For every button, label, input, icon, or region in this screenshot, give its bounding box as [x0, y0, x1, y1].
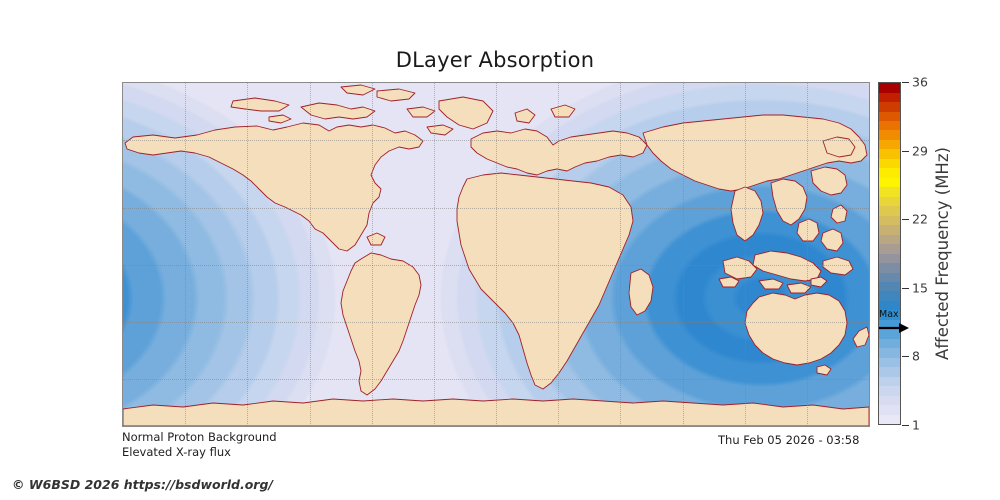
- colorbar-tick: [902, 219, 909, 220]
- colorbar-band: [879, 178, 900, 187]
- colorbar-band: [879, 348, 900, 357]
- colorbar-band: [879, 206, 900, 215]
- colorbar-band: [879, 121, 900, 130]
- status-notes: Normal Proton Background Elevated X-ray …: [122, 430, 277, 459]
- page-title: DLayer Absorption: [0, 48, 990, 72]
- colorbar-band: [879, 102, 900, 111]
- colorbar-tick-label-1: 1: [912, 418, 920, 433]
- colorbar-gradient: [878, 82, 901, 425]
- colorbar-band: [879, 367, 900, 376]
- coastlines-layer: [123, 83, 869, 426]
- colorbar-band: [879, 168, 900, 177]
- colorbar-band: [879, 405, 900, 414]
- colorbar-tick-label-22: 22: [912, 212, 928, 227]
- copyright-label: © W6BSD 2026 https://bsdworld.org/: [12, 477, 273, 492]
- colorbar-band: [879, 130, 900, 139]
- max-arrow-icon: [879, 322, 909, 334]
- colorbar-band: [879, 339, 900, 348]
- continent-antarctica: [123, 399, 869, 426]
- island-greenland-misc: [439, 97, 575, 129]
- continent-europe-africa: [457, 129, 703, 389]
- colorbar-band: [879, 83, 900, 92]
- colorbar-axis-label-text: Affected Frequency (MHz): [933, 147, 952, 360]
- colorbar: 36 29 22 15 8 1: [878, 82, 901, 425]
- colorbar-band: [879, 291, 900, 300]
- colorbar-tick: [902, 356, 909, 357]
- continent-south-america: [341, 253, 421, 395]
- continent-north-america: [125, 85, 453, 251]
- colorbar-band: [879, 225, 900, 234]
- world-map-plot: [122, 82, 870, 427]
- max-annotation: Max: [879, 310, 915, 334]
- colorbar-tick: [902, 288, 909, 289]
- colorbar-band: [879, 235, 900, 244]
- colorbar-tick: [902, 82, 909, 83]
- timestamp-label: Thu Feb 05 2026 - 03:58: [718, 433, 859, 447]
- colorbar-band: [879, 149, 900, 158]
- colorbar-band: [879, 159, 900, 168]
- colorbar-tick-label-29: 29: [912, 143, 928, 158]
- colorbar-tick-label-8: 8: [912, 349, 920, 364]
- colorbar-band: [879, 216, 900, 225]
- colorbar-band: [879, 197, 900, 206]
- colorbar-band: [879, 273, 900, 282]
- colorbar-band: [879, 386, 900, 395]
- colorbar-tick-label-15: 15: [912, 280, 928, 295]
- note-xray-flux: Elevated X-ray flux: [122, 445, 277, 460]
- colorbar-tick-label-36: 36: [912, 75, 928, 90]
- colorbar-band: [879, 244, 900, 253]
- colorbar-band: [879, 140, 900, 149]
- colorbar-band: [879, 358, 900, 367]
- colorbar-band: [879, 377, 900, 386]
- map-inner: [123, 83, 869, 426]
- colorbar-tick: [902, 425, 909, 426]
- colorbar-band: [879, 112, 900, 121]
- max-label: Max: [879, 310, 899, 320]
- continent-australia: [745, 293, 869, 375]
- colorbar-band: [879, 282, 900, 291]
- continent-asia: [643, 115, 867, 251]
- colorbar-tick: [902, 151, 909, 152]
- region-maritime-southeast-asia: [719, 251, 853, 293]
- colorbar-band: [879, 93, 900, 102]
- colorbar-band: [879, 187, 900, 196]
- colorbar-band: [879, 396, 900, 405]
- note-proton-background: Normal Proton Background: [122, 430, 277, 445]
- colorbar-band: [879, 415, 900, 424]
- colorbar-band: [879, 254, 900, 263]
- colorbar-band: [879, 263, 900, 272]
- colorbar-axis-label: Affected Frequency (MHz): [930, 82, 954, 425]
